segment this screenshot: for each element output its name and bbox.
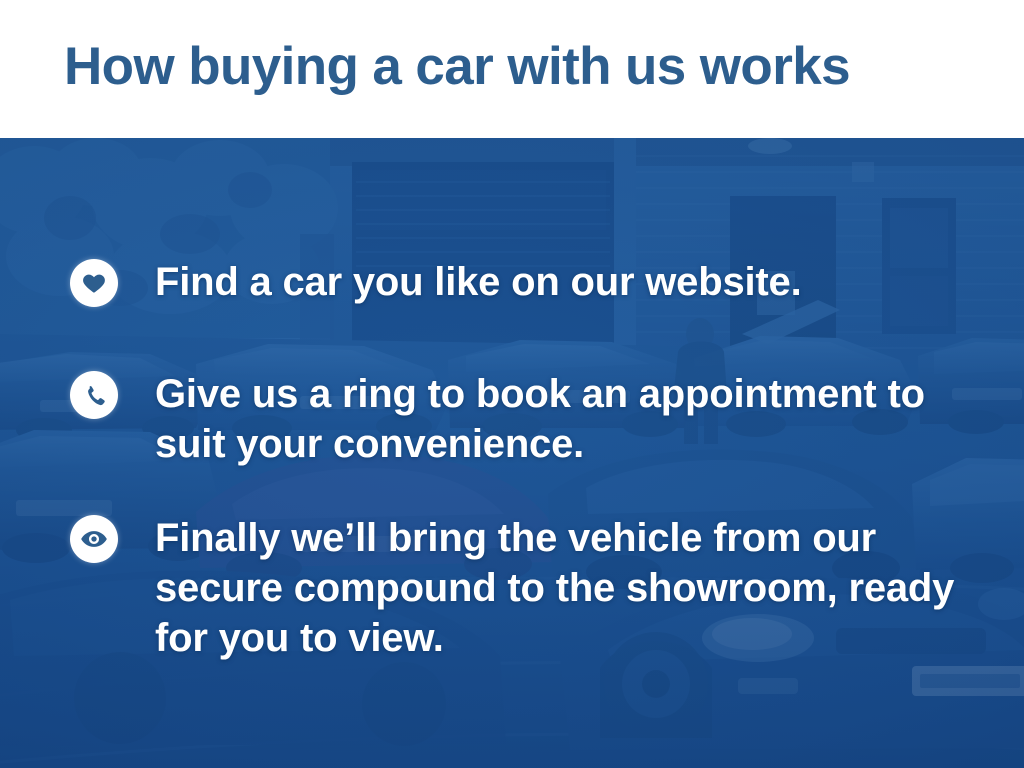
phone-icon (70, 371, 118, 419)
step-1-text: Find a car you like on our website. (155, 257, 801, 307)
slide-root: How buying a car with us works Find a ca… (0, 0, 1024, 768)
step-3-text: Finally we’ll bring the vehicle from our… (155, 513, 960, 663)
heart-icon (70, 259, 118, 307)
list-item-step-2: Give us a ring to book an appointment to… (70, 369, 960, 469)
steps-list: Find a car you like on our website. Give… (0, 138, 1024, 768)
eye-icon (70, 515, 118, 563)
step-2-text: Give us a ring to book an appointment to… (155, 369, 960, 469)
list-item-step-3: Finally we’ll bring the vehicle from our… (70, 513, 960, 663)
header-band: How buying a car with us works (0, 0, 1024, 138)
list-item-step-1: Find a car you like on our website. (70, 257, 801, 307)
page-title: How buying a car with us works (64, 36, 850, 97)
